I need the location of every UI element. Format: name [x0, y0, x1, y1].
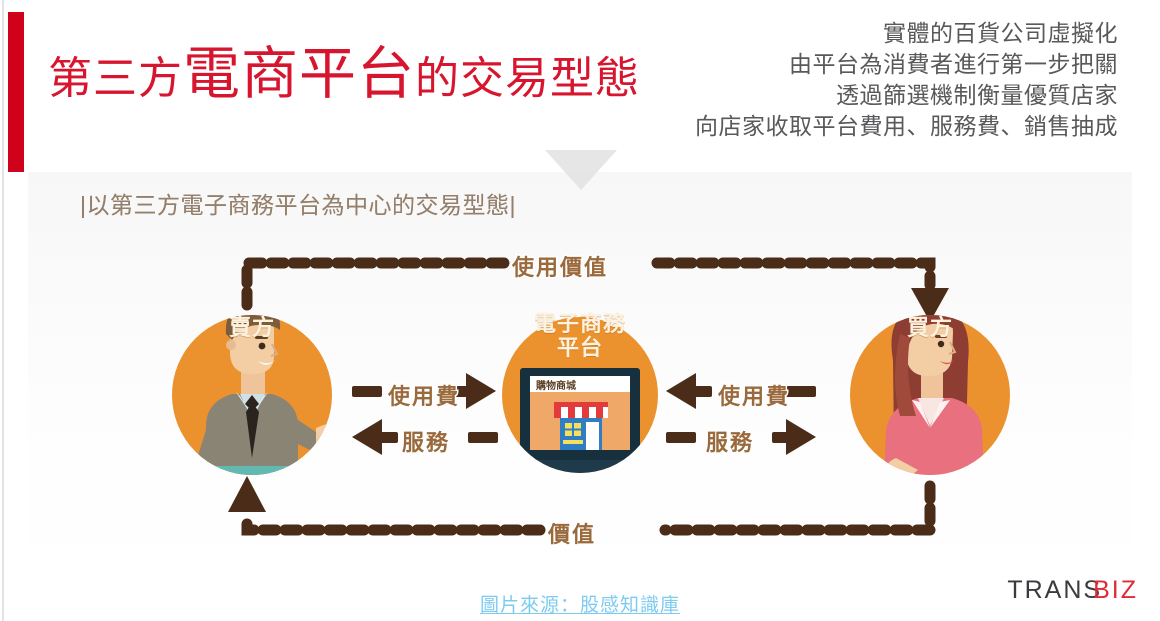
node-label-platform-line1: 電子商務 — [520, 312, 640, 336]
title-part-3: 的交易型態 — [415, 54, 640, 103]
image-source-link[interactable]: 圖片來源：股感知識庫 — [0, 590, 1160, 617]
node-label-platform: 電子商務 平台 — [520, 312, 640, 360]
bullet-line-4: 向店家收取平台費用、服務費、銷售抽成 — [695, 111, 1118, 142]
header-bullet-list: 實體的百貨公司虛擬化 由平台為消費者進行第一步把關 透過篩選機制衡量優質店家 向… — [695, 18, 1118, 142]
flow-label-buyer-service: 服務 — [706, 425, 754, 457]
red-accent-bar — [8, 12, 24, 172]
path-label-value: 價值 — [548, 517, 596, 549]
logo-text-trans: TRANS — [1007, 576, 1102, 604]
node-label-seller: 賣方 — [212, 316, 292, 340]
slide-canvas: 第三方電商平台的交易型態 實體的百貨公司虛擬化 由平台為消費者進行第一步把關 透… — [0, 0, 1160, 621]
bullet-line-3: 透過篩選機制衡量優質店家 — [695, 80, 1118, 111]
screen-caption-text: 購物商城 — [535, 379, 576, 392]
flow-label-seller-fee: 使用費 — [388, 379, 460, 411]
diagram-subheading: |以第三方電子商務平台為中心的交易型態| — [80, 186, 516, 220]
node-label-platform-line2: 平台 — [520, 336, 640, 360]
bullet-line-2: 由平台為消費者進行第一步把關 — [695, 49, 1118, 80]
bullet-line-1: 實體的百貨公司虛擬化 — [695, 18, 1118, 49]
title-part-1: 第三方 — [48, 54, 183, 103]
path-label-use-value: 使用價值 — [512, 250, 608, 282]
flow-label-buyer-fee: 使用費 — [718, 379, 790, 411]
title-part-2: 電商平台 — [183, 42, 415, 106]
flow-label-seller-service: 服務 — [402, 425, 450, 457]
transaction-flow-diagram: .dashline{stroke:#4a2c18;stroke-width:11… — [0, 230, 1160, 560]
node-label-buyer: 買方 — [890, 316, 970, 340]
logo-text-biz: BIZ — [1093, 576, 1138, 604]
page-title: 第三方電商平台的交易型態 — [48, 46, 640, 103]
transbiz-logo: TRANSBIZ — [1007, 578, 1138, 603]
chevron-down-icon — [545, 150, 617, 190]
